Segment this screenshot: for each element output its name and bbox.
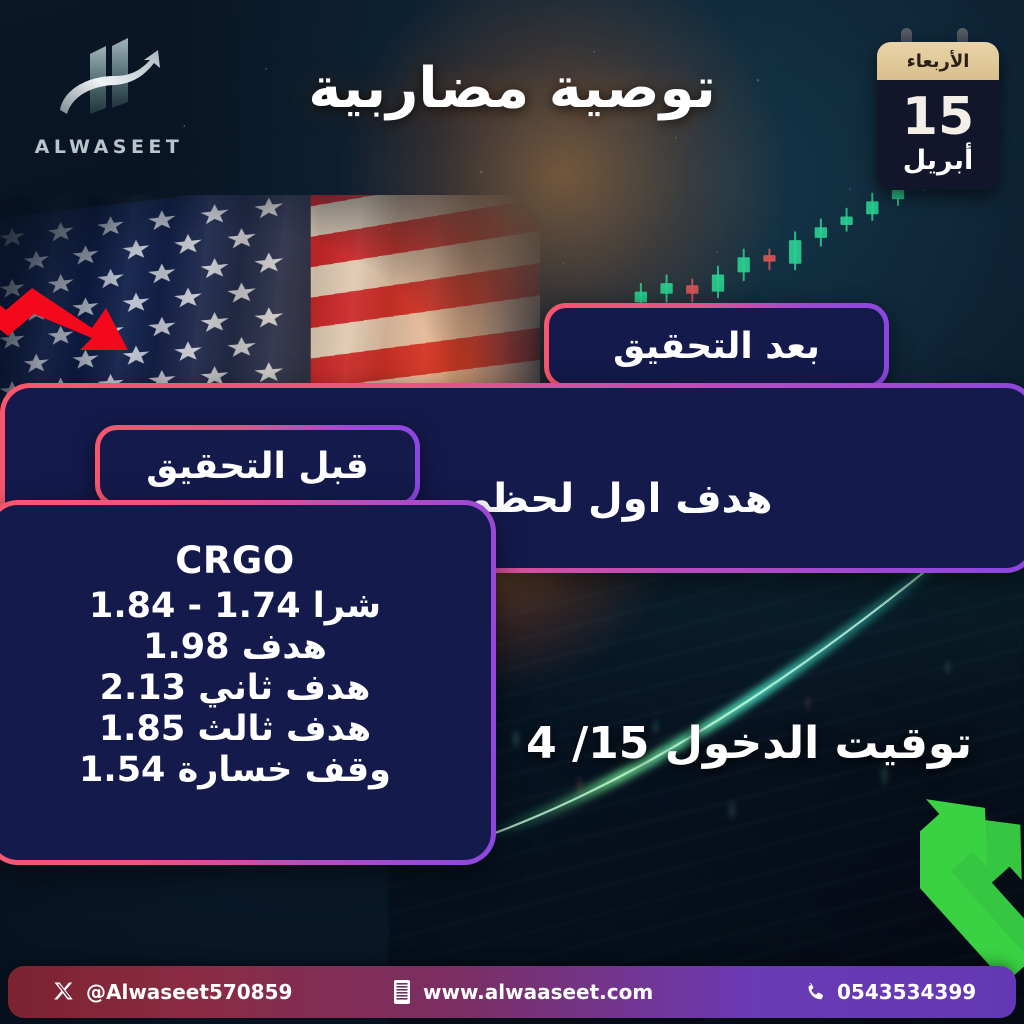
after-section-header: بعد التحقيق [544,303,889,389]
before-section-panel: CRGO شرا 1.74 - 1.84هدف 1.98هدف ثاني 2.1… [0,500,496,865]
x-twitter-icon [52,980,76,1004]
before-section-line: شرا 1.74 - 1.84 [19,586,451,627]
after-section-header-label: بعد التحقيق [613,326,820,367]
footer-website-url: www.alwaaseet.com [423,980,653,1004]
before-section-line: هدف ثالث 1.85 [19,709,451,750]
footer-twitter-handle: @Alwaseet570859 [86,980,292,1004]
footer-website[interactable]: www.alwaaseet.com [391,979,653,1005]
before-section-details: CRGO شرا 1.74 - 1.84هدف 1.98هدف ثاني 2.1… [0,505,491,860]
calendar-day: 15 [877,92,999,143]
poster-canvas: ALWASEET توصية مضاربية الأربعاء 15 أبريل… [0,0,1024,1024]
footer-bar: @Alwaseet570859 www.alwaaseet.com 05435 [8,966,1016,1018]
before-section-line: هدف ثاني 2.13 [19,668,451,709]
footer-phone-number: 0543534399 [837,980,976,1004]
phone-icon [803,980,827,1004]
footer-twitter[interactable]: @Alwaseet570859 [52,980,292,1004]
calendar-body: الأربعاء 15 أبريل [877,42,999,190]
ticker-symbol: CRGO [19,539,451,582]
footer-phone[interactable]: 0543534399 [803,980,976,1004]
arrow-up-green-icon [920,776,1024,976]
before-section-line: وقف خسارة 1.54 [19,750,451,791]
calendar-weekday: الأربعاء [877,42,999,80]
calendar-month: أبريل [877,145,999,176]
before-section-lines: شرا 1.74 - 1.84هدف 1.98هدف ثاني 2.13هدف … [19,586,451,791]
calendar-widget: الأربعاء 15 أبريل [877,28,999,190]
entry-time-text: توقيت الدخول 15/ 4 [526,718,972,769]
arrow-down-red-icon [0,258,138,368]
before-section-header-label: قبل التحقيق [146,446,369,487]
document-list-icon [391,979,413,1005]
logo-wordmark: ALWASEET [34,136,184,158]
page-title: توصية مضاربية [0,56,1024,121]
before-section-line: هدف 1.98 [19,627,451,668]
before-section-header: قبل التحقيق [95,425,420,507]
